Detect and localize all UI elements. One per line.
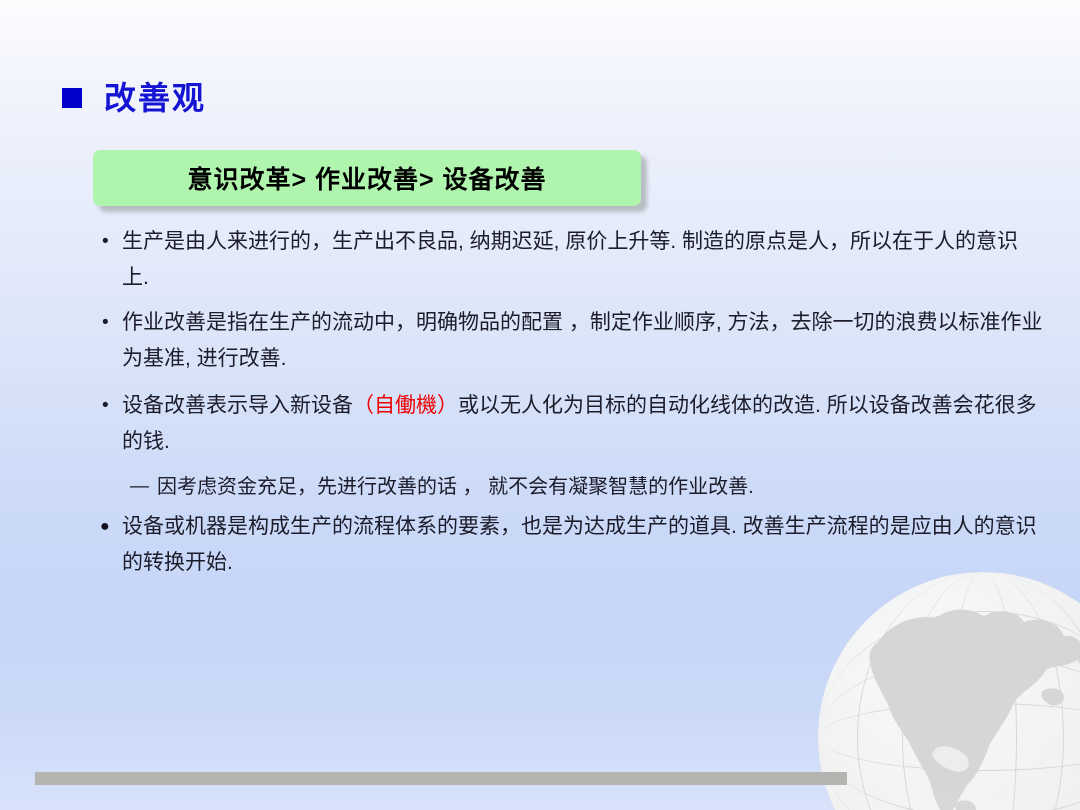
page-title: 改善观 xyxy=(62,82,206,114)
list-item-text: 设备改善表示导入新设备（自働機）或以无人化为目标的自动化线体的改造. 所以设备改… xyxy=(122,388,1044,460)
highlight-banner: 意识改革> 作业改善> 设备改善 xyxy=(93,150,641,206)
list-item-text-emphasis: （自働機） xyxy=(353,394,458,417)
world-map-icon xyxy=(818,572,1080,810)
list-item-text-before: 设备改善表示导入新设备 xyxy=(122,394,353,417)
list-item-sub: — 因考虑资金充足，先进行改善的话 ， 就不会有凝聚智慧的作业改善. xyxy=(96,469,1044,505)
title-label: 改善观 xyxy=(104,82,206,114)
list-item-text: 设备或机器是构成生产的流程体系的要素，也是为达成生产的道具. 改善生产流程的是应… xyxy=(122,509,1044,581)
list-item: • 生产是由人来进行的，生产出不良品, 纳期迟延, 原价上升等. 制造的原点是人… xyxy=(96,224,1044,296)
list-item-sub-text: 因考虑资金充足，先进行改善的话 ， 就不会有凝聚智慧的作业改善. xyxy=(157,469,1044,505)
list-item: ● 设备或机器是构成生产的流程体系的要素，也是为达成生产的道具. 改善生产流程的… xyxy=(96,509,1044,581)
highlight-banner-label: 意识改革> 作业改善> 设备改善 xyxy=(187,160,546,196)
title-square-bullet-icon xyxy=(62,88,82,108)
bullet-dot-icon: • xyxy=(96,224,122,260)
list-item: • 作业改善是指在生产的流动中，明确物品的配置 ，制定作业顺序, 方法，去除一切… xyxy=(96,305,1044,377)
list-item-text: 作业改善是指在生产的流动中，明确物品的配置 ，制定作业顺序, 方法，去除一切的浪… xyxy=(122,305,1044,377)
bullet-dot-icon: • xyxy=(96,305,122,341)
footer-bar xyxy=(35,772,847,785)
bullet-dash-icon: — xyxy=(130,469,157,505)
list-item: • 设备改善表示导入新设备（自働機）或以无人化为目标的自动化线体的改造. 所以设… xyxy=(96,388,1044,460)
bullet-list: • 生产是由人来进行的，生产出不良品, 纳期迟延, 原价上升等. 制造的原点是人… xyxy=(96,224,1044,581)
bullet-circle-icon: ● xyxy=(96,509,122,545)
slide-canvas: 改善观 意识改革> 作业改善> 设备改善 • 生产是由人来进行的，生产出不良品,… xyxy=(0,0,1080,810)
bullet-dot-icon: • xyxy=(96,388,122,424)
list-item-text: 生产是由人来进行的，生产出不良品, 纳期迟延, 原价上升等. 制造的原点是人，所… xyxy=(122,224,1044,296)
globe-decoration xyxy=(818,572,1080,810)
